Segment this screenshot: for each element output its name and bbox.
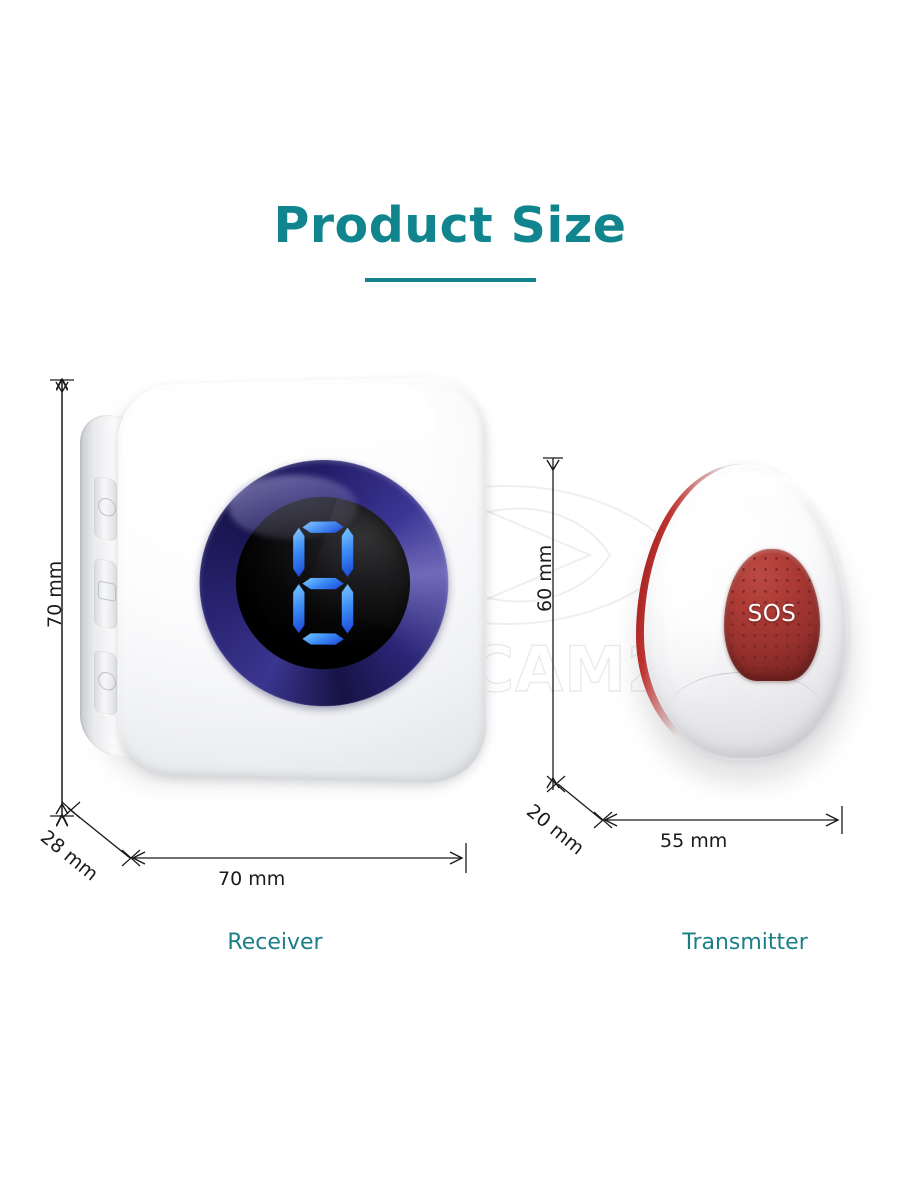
sos-button-label: SOS [724,601,820,627]
transmitter-device-image: SOS [620,462,870,792]
transmitter-depth-label: 20 mm [522,800,588,859]
transmitter-top-gloss [692,472,812,516]
segment-g [302,578,343,589]
receiver-display-ring [200,458,449,708]
transmitter-side-gloss [664,512,718,700]
receiver-mode-icon [98,580,116,601]
receiver-display-screen [236,496,410,670]
transmitter-width-label: 55 mm [660,830,727,852]
segment-e [293,584,304,633]
receiver-depth-label: 28 mm [36,826,102,885]
receiver-front-body [118,376,487,784]
receiver-caption: Receiver [150,930,400,955]
transmitter-height-label: 60 mm [534,545,556,612]
segment-f [293,528,304,577]
segment-b [342,527,353,576]
segment-a [302,521,343,533]
segment-d [302,633,343,645]
title-underline-rule [365,278,536,282]
sos-button[interactable]: SOS [724,549,820,681]
page-title-block: Product Size [0,196,900,282]
receiver-seven-segment-digit [291,521,355,645]
receiver-width-label: 70 mm [218,868,285,890]
receiver-device-image [78,381,482,789]
transmitter-shell-seam [670,672,822,749]
page-title: Product Size [0,196,900,256]
segment-c [342,584,353,633]
transmitter-caption: Transmitter [620,930,870,955]
receiver-height-label: 70 mm [44,561,66,628]
